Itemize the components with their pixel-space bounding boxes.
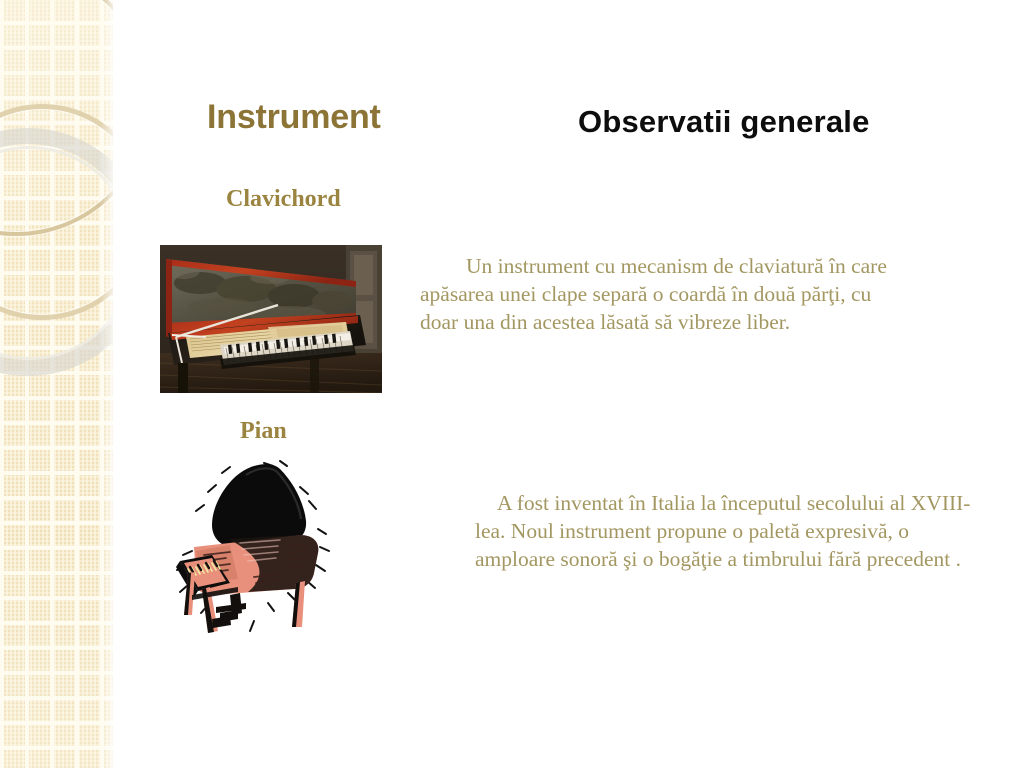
description-pian: A fost inventat în Italia la începutul s… [475,489,975,573]
grand-piano-illustration [168,455,340,635]
instrument-label-pian: Pian [240,418,287,445]
instrument-label-clavichord: Clavichord [226,186,341,213]
description-clavichord: Un instrument cu mecanism de claviatură … [420,252,912,336]
slide-canvas: Instrument Observatii generale Clavichor… [0,0,1024,768]
decorative-band-fade [100,0,126,768]
column-heading-instrument: Instrument [207,98,381,137]
column-heading-observatii: Observatii generale [578,104,870,140]
clavichord-photo [160,245,382,393]
